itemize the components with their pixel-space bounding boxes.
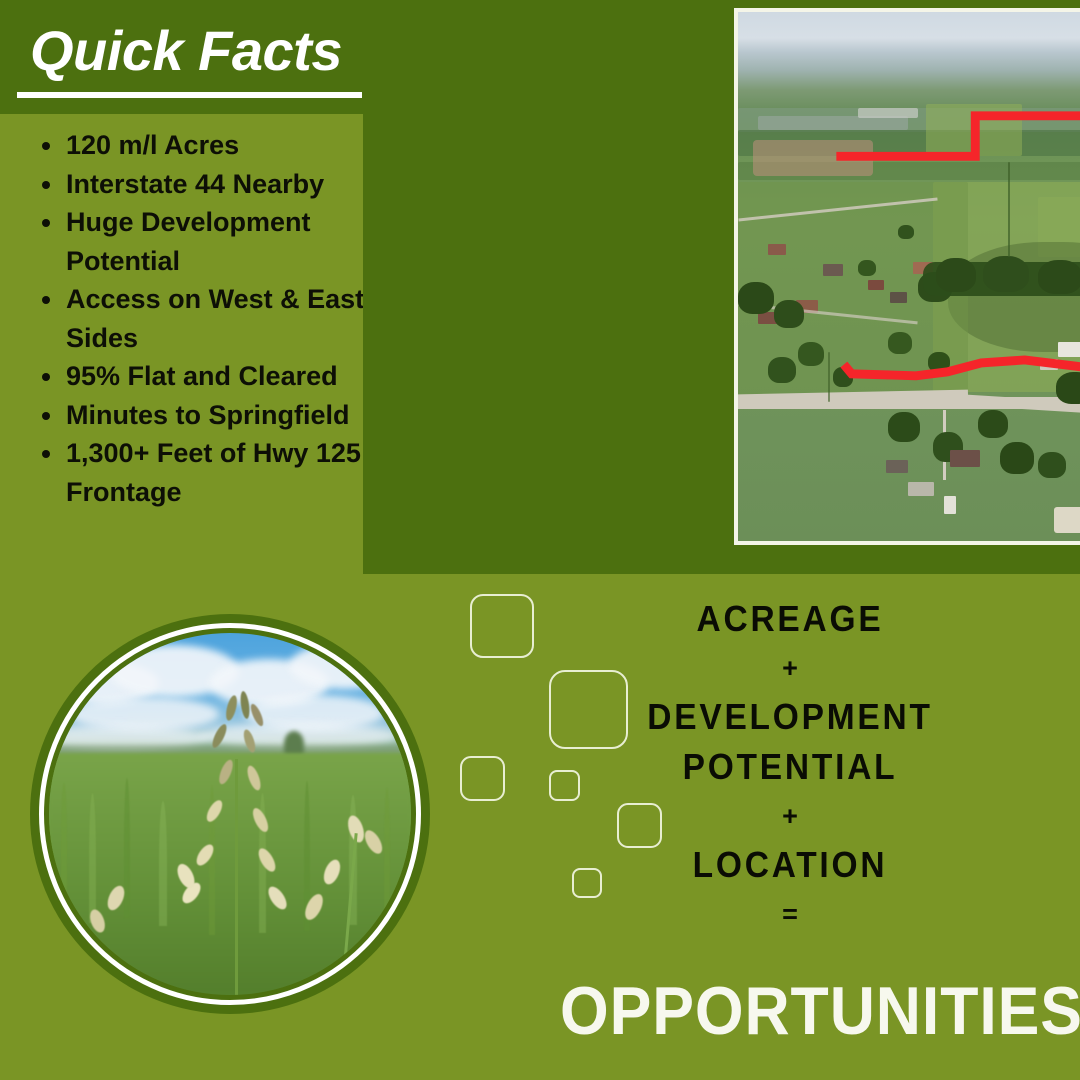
list-item: 95% Flat and Cleared [36,357,366,396]
quick-facts-list: 120 m/l Acres Interstate 44 Nearby Huge … [36,126,366,511]
decorative-square [460,756,505,801]
equation-development: DEVELOPMENT [576,692,1004,742]
equation-acreage: ACREAGE [576,594,1004,644]
aerial-photo-panel: Property lines are for visual purposes o… [363,0,1080,574]
property-boundary-overlay [738,12,1080,541]
grass-field-photo [49,633,411,995]
title-underline [17,92,362,98]
aerial-photo-frame: Property lines are for visual purposes o… [734,8,1080,545]
equation-location: LOCATION [576,840,1004,890]
value-equation: ACREAGE + DEVELOPMENT POTENTIAL + LOCATI… [560,594,1020,938]
list-item: 1,300+ Feet of Hwy 125 Frontage [36,434,366,511]
equation-potential: POTENTIAL [576,742,1004,792]
equation-result: OPPORTUNITIES [560,975,1020,1047]
equation-equals: = [560,890,1020,938]
aerial-property-photo: Property lines are for visual purposes o… [738,12,1080,541]
grass-photo-circle [30,614,430,1014]
grass-photo-ring [39,623,421,1005]
list-item: 120 m/l Acres [36,126,366,165]
list-item: Interstate 44 Nearby [36,165,366,204]
quick-facts-banner: Quick Facts [0,0,366,114]
list-item: Minutes to Springfield [36,396,366,435]
page-title: Quick Facts [30,18,342,83]
list-item: Access on West & East Sides [36,280,366,357]
decorative-square [470,594,534,658]
equation-plus-1: + [560,644,1020,692]
equation-plus-2: + [560,792,1020,840]
list-item: Huge Development Potential [36,203,366,280]
